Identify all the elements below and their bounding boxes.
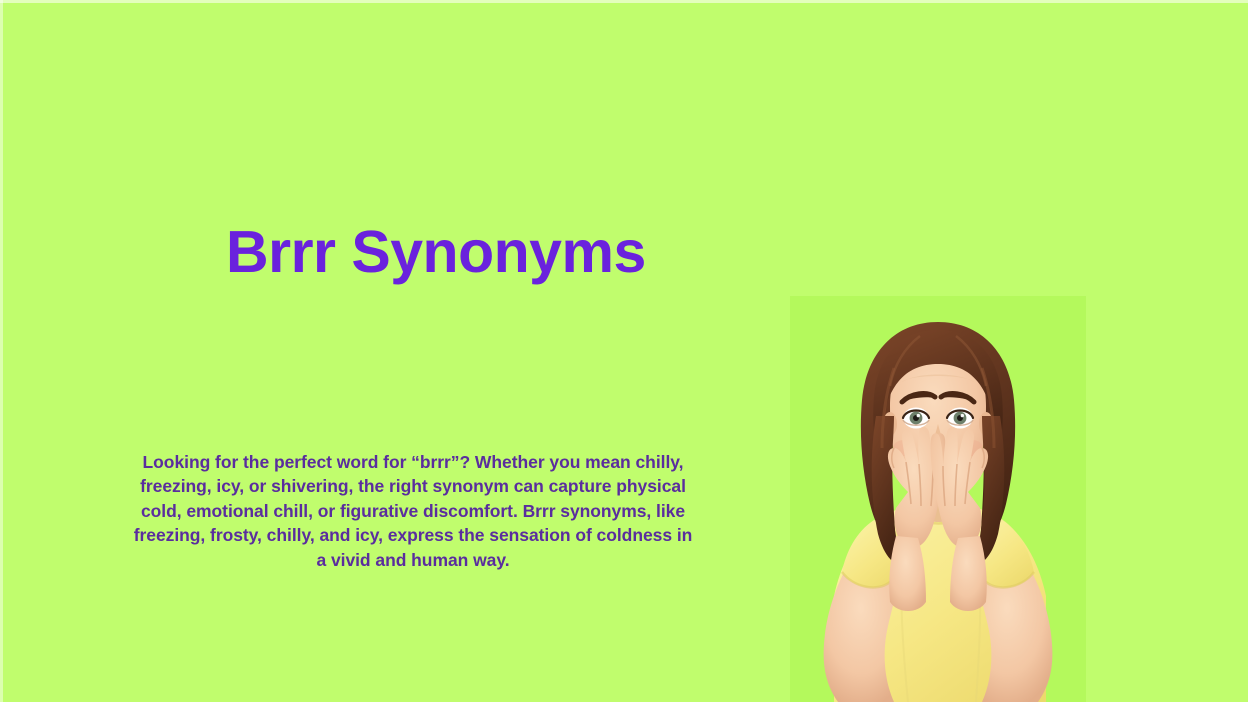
page-title: Brrr Synonyms <box>226 220 646 285</box>
slide-canvas: Brrr Synonyms Looking for the perfect wo… <box>0 0 1248 702</box>
woman-surprised-photo <box>790 296 1086 702</box>
intro-paragraph: Looking for the perfect word for “brrr”?… <box>131 450 695 573</box>
text-column: Brrr Synonyms Looking for the perfect wo… <box>0 0 760 702</box>
